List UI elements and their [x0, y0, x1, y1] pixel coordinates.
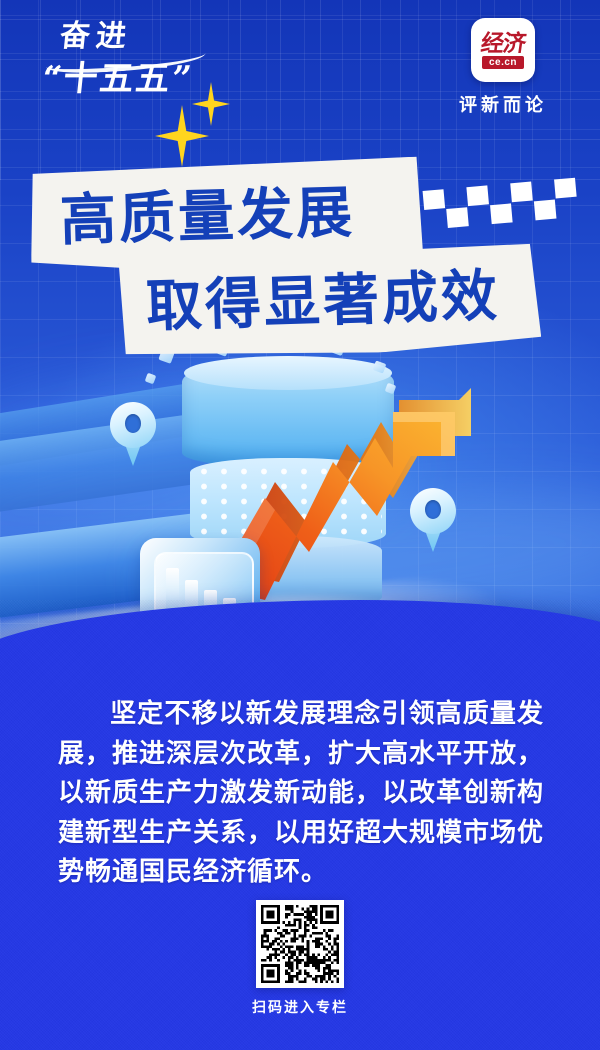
floating-chip-2	[145, 373, 157, 385]
qr-section: 扫码进入专栏	[0, 900, 600, 1017]
location-pin-icon-right	[410, 488, 456, 552]
body-paragraph: 坚定不移以新发展理念引领高质量发展，推进深层次改革，扩大高水平开放，以新质生产力…	[58, 694, 544, 892]
title-line-2: 取得显著成效	[145, 268, 501, 335]
poster-root: 奋进 “十五五” 经济 ce.cn 评新而论	[0, 0, 600, 1050]
logo-tagline: 评新而论	[444, 91, 562, 117]
checker-square	[490, 203, 513, 224]
qr-code[interactable]	[256, 900, 344, 988]
logo-badge: 经济 ce.cn	[471, 18, 535, 82]
checker-square	[423, 189, 446, 210]
pin-hole	[125, 414, 141, 433]
site-logo-block: 经济 ce.cn 评新而论	[444, 18, 562, 117]
checker-square	[446, 207, 469, 228]
title-line-1: 高质量发展	[59, 184, 355, 248]
checker-square	[554, 178, 577, 199]
paragraph-text: 坚定不移以新发展理念引领高质量发展，推进深层次改革，扩大高水平开放，以新质生产力…	[58, 698, 544, 886]
checker-square	[466, 185, 489, 206]
location-pin-icon-left	[110, 402, 156, 466]
pin-hole	[425, 500, 441, 519]
checker-square	[510, 182, 533, 203]
logo-text: 经济	[479, 32, 526, 55]
campaign-brand: 奋进 “十五五”	[42, 22, 232, 102]
qr-caption: 扫码进入专栏	[0, 997, 600, 1017]
campaign-line2: “十五五”	[40, 62, 195, 96]
logo-url: ce.cn	[482, 56, 524, 69]
checker-square	[534, 200, 557, 221]
